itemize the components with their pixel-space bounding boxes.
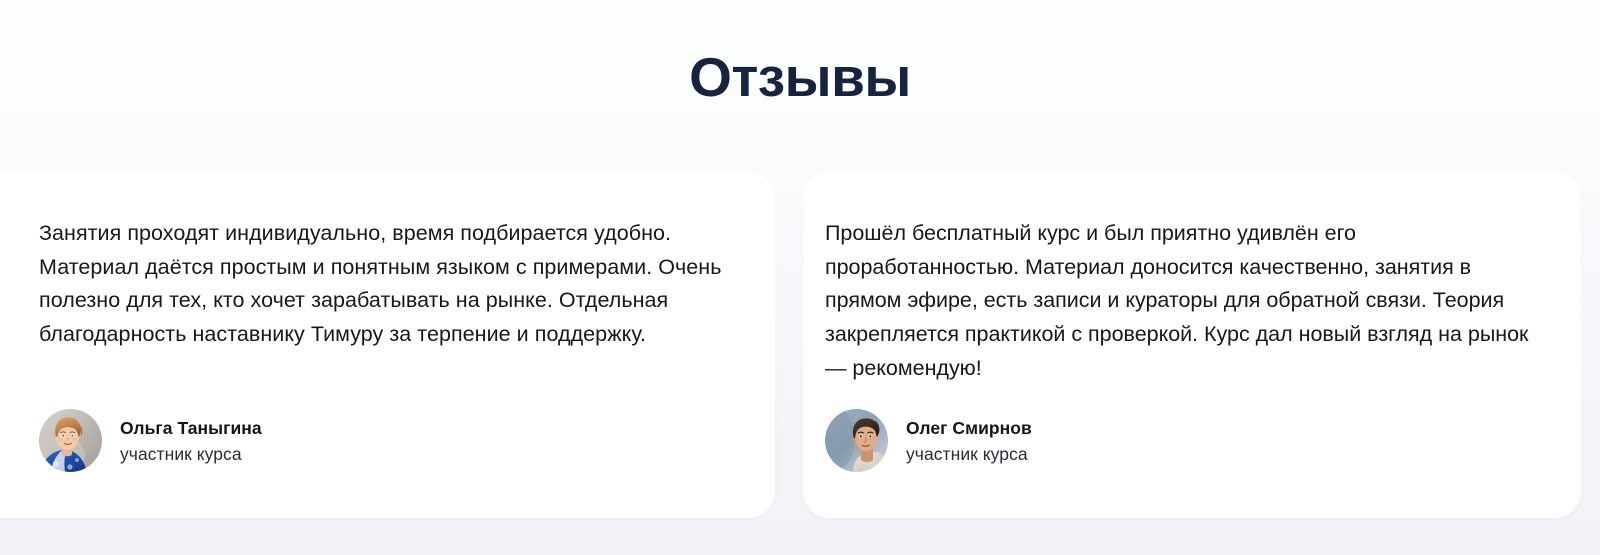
author-meta: Олег Смирнов участник курса — [906, 416, 1032, 466]
testimonial-card: Занятия проходят индивидуально, время по… — [0, 172, 775, 518]
avatar — [39, 409, 102, 472]
testimonial-card: Прошёл бесплатный курс и был приятно уди… — [803, 172, 1581, 518]
author-meta: Ольга Таныгина участник курса — [120, 416, 262, 466]
testimonials-section: Отзывы Занятия проходят индивидуально, в… — [0, 0, 1600, 555]
author-role: участник курса — [906, 442, 1032, 466]
author-role: участник курса — [120, 442, 262, 466]
author-name: Олег Смирнов — [906, 416, 1032, 440]
testimonial-author: Ольга Таныгина участник курса — [39, 409, 262, 472]
testimonial-quote: Прошёл бесплатный курс и был приятно уди… — [825, 217, 1539, 386]
author-name: Ольга Таныгина — [120, 416, 262, 440]
testimonial-author: Олег Смирнов участник курса — [825, 409, 1032, 472]
page-title: Отзывы — [0, 44, 1600, 110]
testimonial-quote: Занятия проходят индивидуально, время по… — [39, 217, 735, 352]
avatar — [825, 409, 888, 472]
testimonials-card-row: Занятия проходят индивидуально, время по… — [0, 172, 1600, 518]
